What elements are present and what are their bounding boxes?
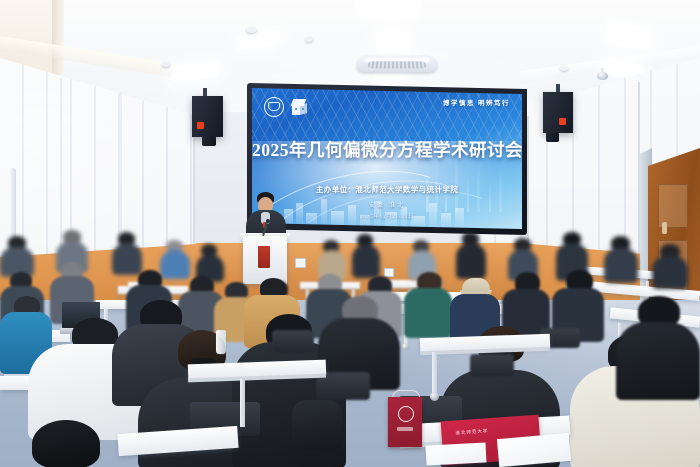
podium-emblem bbox=[258, 246, 270, 268]
door-handle[interactable] bbox=[662, 222, 667, 234]
presentation-screen[interactable]: 博学慎思 明辨笃行 2025年几何偏微分方程学术研讨会 主办单位：淮北师范大学数… bbox=[252, 88, 522, 229]
audience-member bbox=[652, 244, 688, 288]
chair[interactable] bbox=[272, 330, 314, 352]
smoke-detector-icon bbox=[305, 37, 313, 42]
audience-member bbox=[0, 236, 34, 276]
speaker-right-jbl bbox=[543, 92, 573, 133]
ceiling-light-panel bbox=[376, 30, 410, 53]
cube-dot bbox=[302, 108, 304, 110]
desk-caster bbox=[430, 392, 439, 401]
torso bbox=[652, 256, 688, 289]
audience-member bbox=[196, 244, 224, 280]
cube-dot bbox=[295, 108, 297, 110]
water-bottle bbox=[216, 330, 226, 354]
desk-leg bbox=[432, 352, 437, 394]
desk-leg bbox=[240, 379, 245, 427]
smoke-detector-icon bbox=[560, 66, 568, 71]
torso bbox=[352, 244, 380, 278]
desk-caster bbox=[402, 343, 409, 350]
screen-place: 安徽·淮北 bbox=[252, 200, 522, 209]
university-seal-icon bbox=[398, 406, 414, 422]
hair bbox=[32, 420, 100, 467]
audience-member-glasses bbox=[616, 296, 700, 396]
conference-tote-bag[interactable] bbox=[388, 397, 422, 447]
audience-member bbox=[352, 234, 380, 278]
audience-member bbox=[12, 420, 122, 467]
screen-skyline-graphic bbox=[280, 193, 480, 227]
screen-logos bbox=[264, 97, 309, 117]
wall-switch-plate[interactable] bbox=[295, 258, 306, 268]
microphone-icon bbox=[266, 219, 270, 223]
smoke-detector-icon bbox=[246, 27, 257, 33]
speaker-left bbox=[192, 96, 223, 137]
torso bbox=[456, 243, 486, 279]
smoke-detector-icon bbox=[162, 62, 170, 67]
torso bbox=[604, 248, 638, 283]
chair[interactable] bbox=[470, 354, 514, 376]
folder-text: 淮北师范大学 bbox=[455, 428, 488, 436]
torso bbox=[616, 322, 700, 400]
wall-seam bbox=[638, 82, 640, 272]
cube-logo-icon bbox=[291, 98, 309, 116]
tote-bag-text bbox=[397, 427, 413, 431]
vent-grill bbox=[367, 61, 426, 68]
audience-member bbox=[456, 232, 486, 278]
screen-host-line: 主办单位：淮北师范大学数学与统计学院 bbox=[252, 184, 522, 195]
ceiling-air-vent bbox=[357, 56, 438, 72]
screen-title: 2025年几何偏微分方程学术研讨会 bbox=[252, 137, 522, 162]
camera-dome bbox=[597, 72, 608, 80]
audience-member bbox=[604, 236, 638, 282]
ceiling-light-panel bbox=[360, 0, 416, 18]
speaker-badge bbox=[197, 122, 204, 129]
screen-motto: 博学慎思 明辨笃行 bbox=[443, 97, 510, 107]
paper-handout bbox=[426, 442, 487, 465]
jbl-badge-icon bbox=[559, 118, 566, 125]
cube-left-face bbox=[292, 105, 300, 115]
screen-date: 2025年11月21-24日 bbox=[252, 212, 522, 220]
security-camera-icon bbox=[596, 68, 609, 80]
backpack bbox=[292, 400, 342, 450]
lecture-hall-photo: 博学慎思 明辨笃行 2025年几何偏微分方程学术研讨会 主办单位：淮北师范大学数… bbox=[0, 0, 700, 467]
university-seal-icon bbox=[264, 97, 284, 117]
audience-member bbox=[112, 232, 142, 274]
speaker-tweeter-left bbox=[202, 136, 216, 146]
soffit-edge bbox=[52, 0, 64, 74]
speaker-tweeter-right bbox=[546, 132, 559, 142]
